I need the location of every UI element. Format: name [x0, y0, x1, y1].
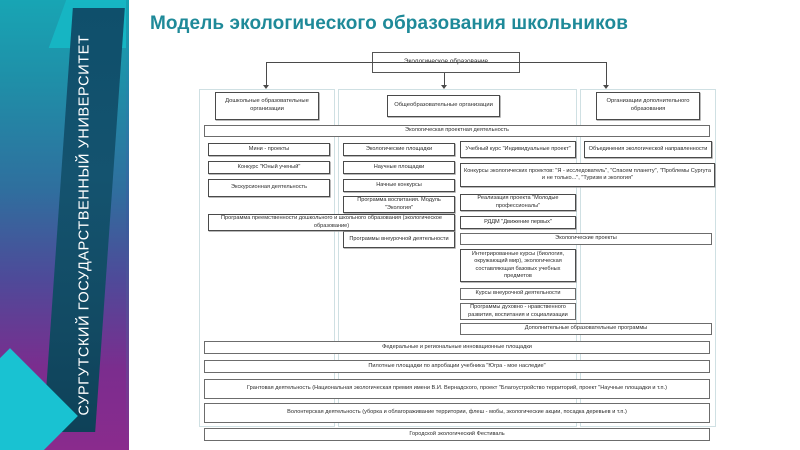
node-header-preschool: Дошкольные образовательные организации — [215, 92, 319, 120]
node-rddm-movement: РДДМ "Движение первых" — [460, 216, 576, 229]
node-succession-program: Программа преемственности дошкольного и … — [208, 214, 455, 231]
node-grant-activity: Грантовая деятельность (Национальная эко… — [204, 379, 710, 399]
node-individual-project-course: Учебный курс "Индивидуальные проект" — [460, 141, 576, 158]
node-spiritual-programs: Программы духовно - нравственного развит… — [460, 303, 576, 320]
node-mini-projects: Мини - проекты — [208, 143, 330, 156]
node-city-eco-festival: Городской экологический Фестиваль — [204, 428, 710, 441]
node-additional-programs: Дополнительные образовательные программы — [460, 323, 712, 335]
node-eco-associations: Объединения экологической направленности — [584, 141, 712, 158]
node-eco-project-contests: Конкурсы экологических проектов: "Я - ис… — [460, 163, 715, 187]
node-scientific-contests: Начные конкурсы — [343, 179, 455, 192]
node-header-extra: Организации дополнительного образования — [596, 92, 700, 120]
connector-vertical-right — [606, 62, 607, 86]
node-innovation-platforms: Федеральные и региональные инновационные… — [204, 341, 710, 354]
node-scientific-platforms: Научные площадки — [343, 161, 455, 174]
node-header-general: Общеобразовательные организации — [387, 95, 500, 117]
connector-horizontal-root — [266, 62, 606, 63]
eco-education-model-diagram: Экологическое образование Дошкольные обр… — [0, 0, 800, 450]
node-young-professionals-project: Реализация проекта "Молодые профессионал… — [460, 194, 576, 211]
node-excursion-activity: Экскурсионная деятельность — [208, 179, 330, 197]
node-band-project-activity: Экологическая проектная деятельность — [204, 125, 710, 137]
node-volunteer-activity: Волонтерская деятельность (уборка и обла… — [204, 403, 710, 423]
node-upbringing-program: Программа воспитания. Модуль "Экология" — [343, 196, 455, 213]
node-eco-projects: Экологические проекты — [460, 233, 712, 245]
panel-extra — [580, 89, 716, 427]
node-integrated-courses: Интегрированные курсы (биология, окружаю… — [460, 249, 576, 282]
node-extracurricular-programs: Программы внеурочной деятельности — [343, 231, 455, 248]
node-eco-platforms: Экологические площадки — [343, 143, 455, 156]
node-extracurricular-courses: Курсы внеурочной деятельности — [460, 288, 576, 300]
panel-preschool — [199, 89, 335, 427]
node-pilot-platforms: Пилотные площадки по апробации учебника … — [204, 360, 710, 373]
connector-vertical-left — [266, 62, 267, 86]
node-young-scientist-contest: Конкурс "Юный ученый" — [208, 161, 330, 174]
